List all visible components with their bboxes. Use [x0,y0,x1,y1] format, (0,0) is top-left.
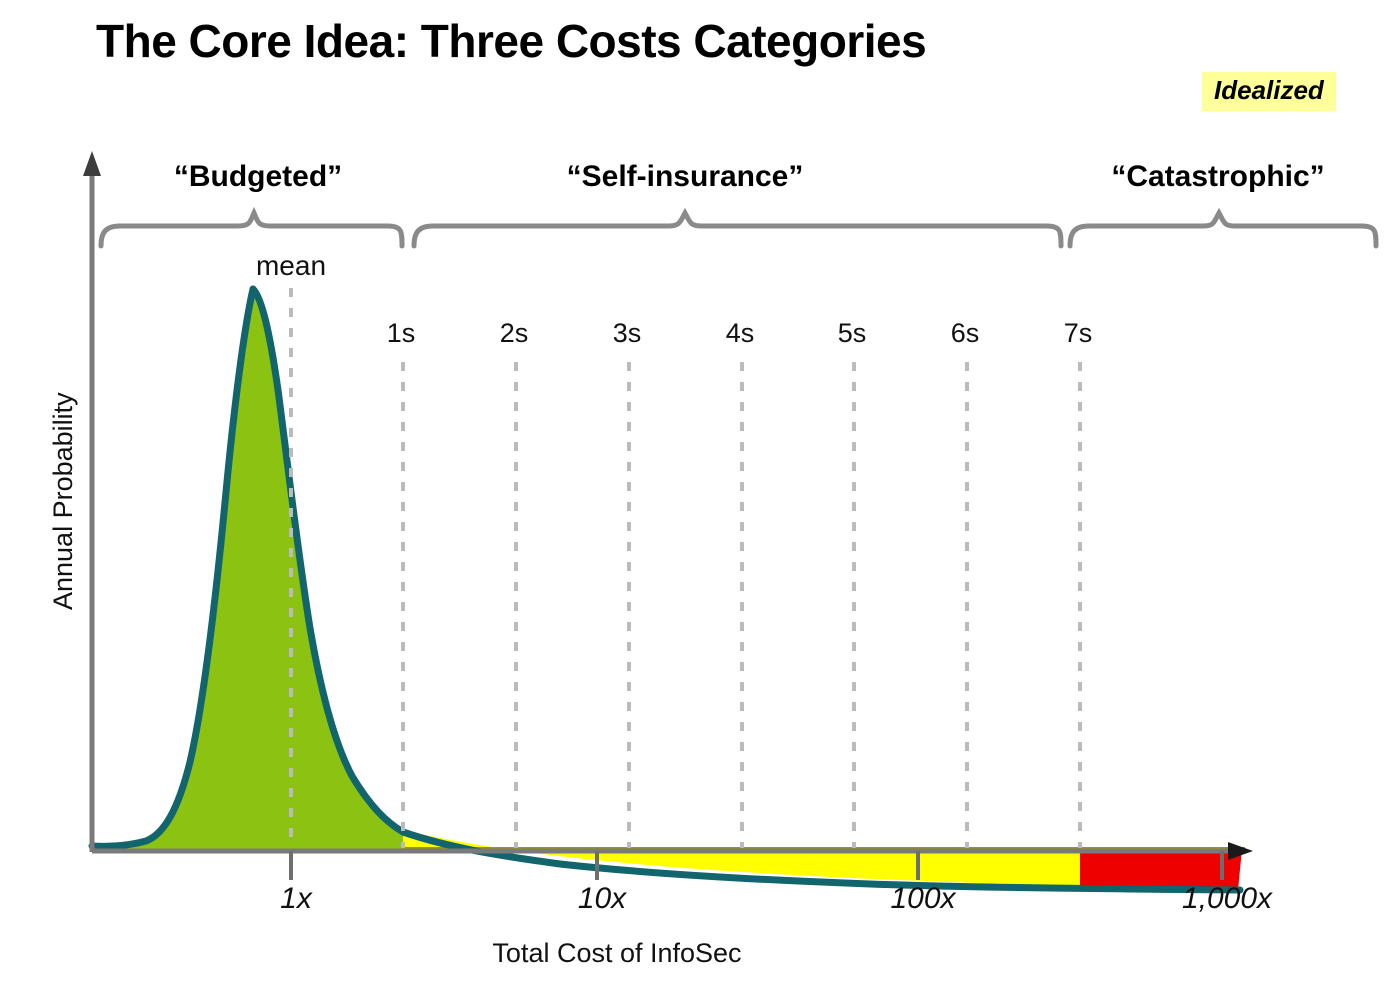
x-tick-label-10x: 10x [578,882,626,916]
category-label-catastrophic: “Catastrophic” [1111,160,1324,194]
mean-label: mean [256,250,326,282]
y-axis-arrowhead [83,151,101,176]
tail-band-green [92,291,403,849]
x-tick-label-1000x: 1,000x [1182,882,1272,916]
sigma-label-1s: 1s [387,318,416,349]
sigma-label-7s: 7s [1064,318,1093,349]
y-axis-title: Annual Probability [48,392,79,610]
sigma-label-5s: 5s [838,318,867,349]
slide-canvas: The Core Idea: Three Costs Categories Id… [0,0,1394,982]
category-label-self-insurance: “Self-insurance” [567,160,804,194]
sigma-label-2s: 2s [500,318,529,349]
sigma-label-3s: 3s [613,318,642,349]
x-tick-label-1x: 1x [280,882,312,916]
sigma-gridlines [403,362,1080,848]
sigma-label-4s: 4s [726,318,755,349]
brace-budgeted [101,213,402,246]
x-tick-label-100x: 100x [890,882,955,916]
probability-distribution-chart [0,0,1394,982]
brace-catastrophic [1070,213,1376,246]
brace-self-insurance [414,213,1061,246]
tail-bands [92,291,1242,890]
sigma-label-6s: 6s [951,318,980,349]
category-label-budgeted: “Budgeted” [174,160,342,194]
category-braces [101,213,1376,246]
x-axis-title: Total Cost of InfoSec [492,938,741,969]
